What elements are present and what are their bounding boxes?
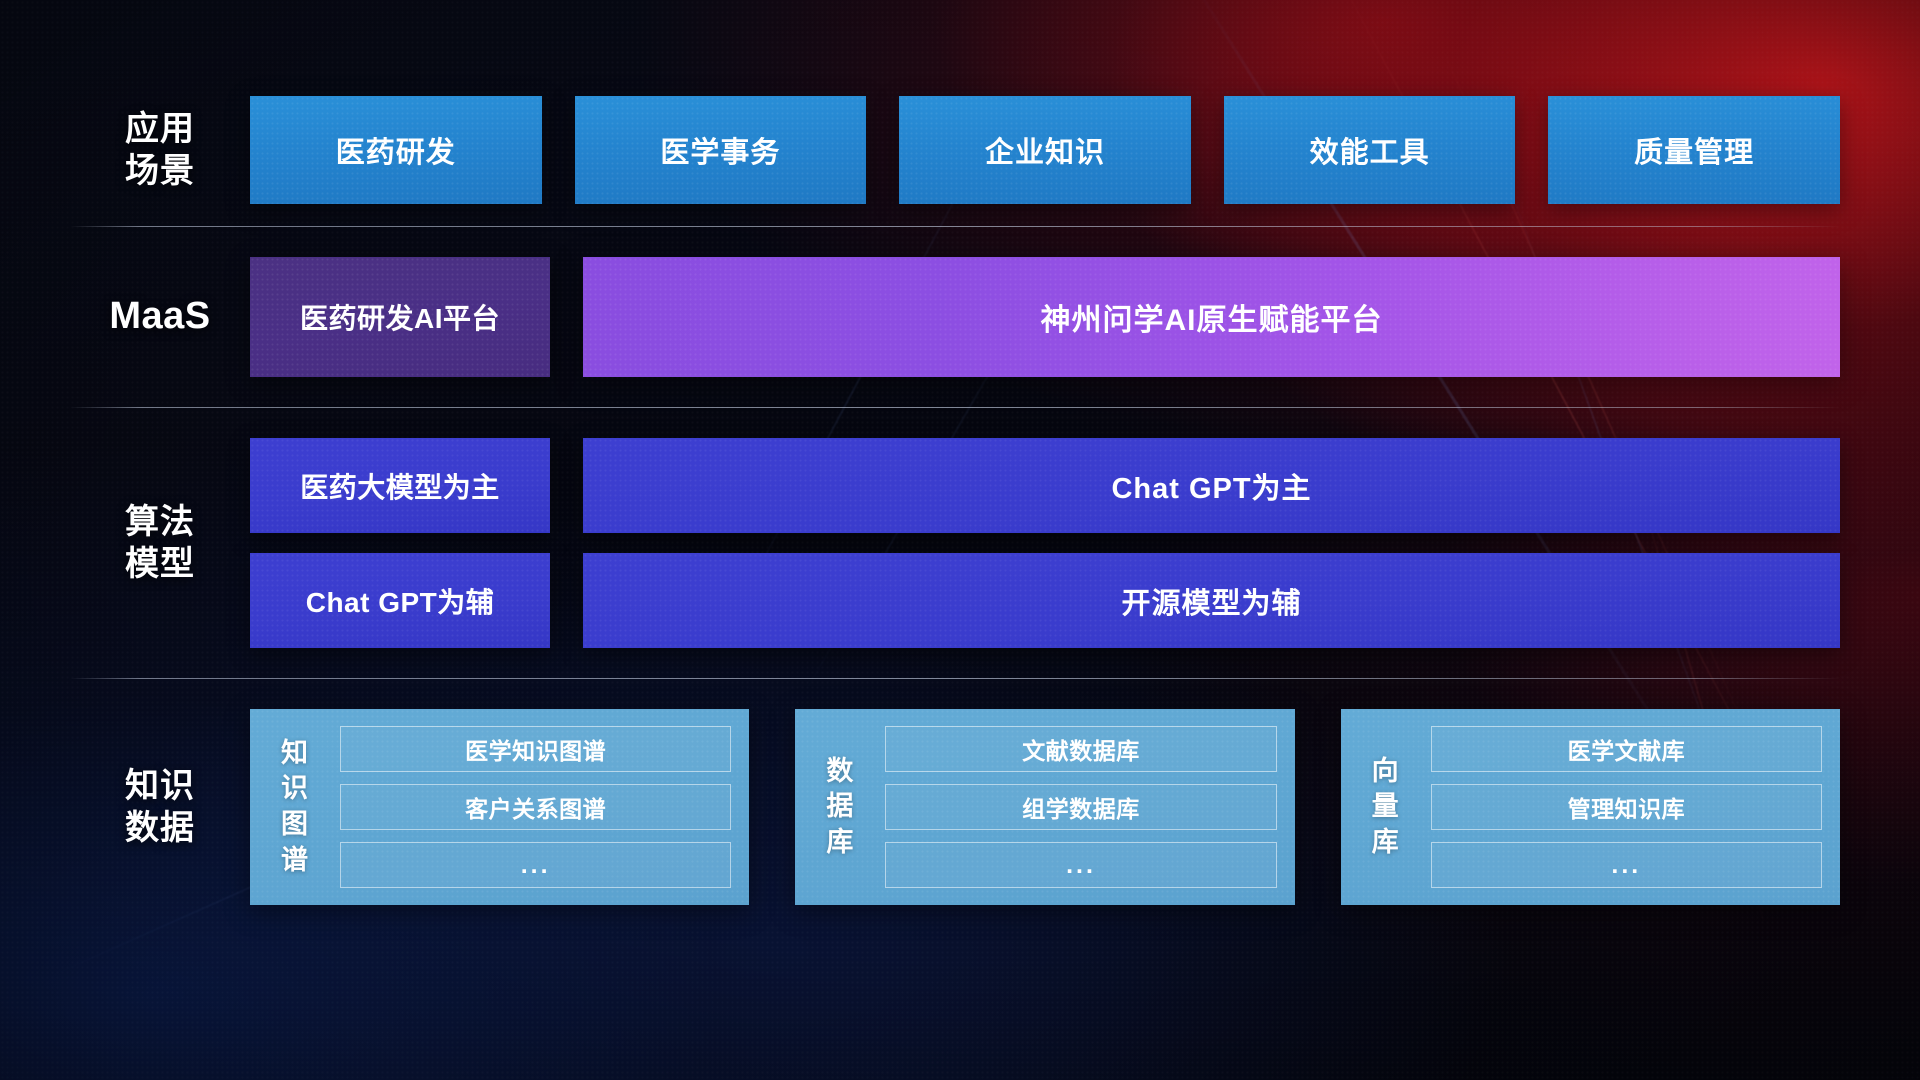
knowledge-item-omics-database[interactable]: 组学数据库 <box>885 784 1276 830</box>
layer-label-line-2: 场景 <box>125 150 195 193</box>
knowledge-panel-knowledge-graph[interactable]: 知 识 图 谱 医学知识图谱 客户关系图谱 ... <box>250 709 749 905</box>
layer-application-scenarios: 应用 场景 医药研发 医学事务 企业知识 效能工具 质量管理 <box>70 96 1840 204</box>
title-char-1: 向 <box>1372 754 1400 790</box>
algo-box-opensource-secondary[interactable]: 开源模型为辅 <box>583 553 1840 648</box>
layer-label-application-scenarios: 应用 场景 <box>70 96 250 204</box>
knowledge-item-medical-knowledge-graph[interactable]: 医学知识图谱 <box>340 726 731 772</box>
layer-label-line-1: 应用 <box>125 108 195 151</box>
knowledge-item-more-3[interactable]: ... <box>1431 842 1822 888</box>
knowledge-item-medical-literature-store[interactable]: 医学文献库 <box>1431 726 1822 772</box>
algorithm-row-primary: 医药大模型为主 Chat GPT为主 <box>250 438 1840 533</box>
architecture-diagram: 应用 场景 医药研发 医学事务 企业知识 效能工具 质量管理 MaaS 医药研 <box>70 96 1840 905</box>
layer-label-algorithm-models: 算法 模型 <box>70 438 250 648</box>
knowledge-panel-database[interactable]: 数 据 库 文献数据库 组学数据库 ... <box>795 709 1294 905</box>
knowledge-item-list-vector-store: 医学文献库 管理知识库 ... <box>1431 726 1822 888</box>
knowledge-panel-group: 知 识 图 谱 医学知识图谱 客户关系图谱 ... <box>250 709 1840 905</box>
title-char-2: 据 <box>826 789 854 825</box>
algo-box-chatgpt-primary[interactable]: Chat GPT为主 <box>583 438 1840 533</box>
knowledge-panel-title-database: 数 据 库 <box>809 726 871 888</box>
knowledge-panel-title-vector-store: 向 量 库 <box>1355 726 1417 888</box>
algo-box-chatgpt-secondary[interactable]: Chat GPT为辅 <box>250 553 550 648</box>
app-box-enterprise-knowledge[interactable]: 企业知识 <box>899 96 1191 204</box>
algorithm-row-secondary: Chat GPT为辅 开源模型为辅 <box>250 553 1840 648</box>
algo-box-pharma-llm-primary[interactable]: 医药大模型为主 <box>250 438 550 533</box>
app-box-efficiency-tools[interactable]: 效能工具 <box>1224 96 1516 204</box>
maas-box-drug-rd-ai-platform[interactable]: 医药研发AI平台 <box>250 257 550 377</box>
layer-algorithm-models: 算法 模型 医药大模型为主 Chat GPT为主 Chat GPT为辅 开源模型… <box>70 438 1840 648</box>
title-char-2: 量 <box>1372 789 1400 825</box>
app-box-medical-affairs[interactable]: 医学事务 <box>575 96 867 204</box>
algorithm-box-group: 医药大模型为主 Chat GPT为主 Chat GPT为辅 开源模型为辅 <box>250 438 1840 648</box>
knowledge-panel-vector-store[interactable]: 向 量 库 医学文献库 管理知识库 ... <box>1341 709 1840 905</box>
title-char-3: 图 <box>281 807 309 843</box>
layer-label-line-2: 模型 <box>125 543 195 586</box>
layer-label-line-1: 算法 <box>125 501 195 544</box>
layer-label-knowledge-data: 知识 数据 <box>70 709 250 905</box>
layer-knowledge-data: 知识 数据 知 识 图 谱 医学知识图谱 客户 <box>70 709 1840 905</box>
layer-body-knowledge-data: 知 识 图 谱 医学知识图谱 客户关系图谱 ... <box>250 709 1840 905</box>
title-char-1: 数 <box>826 754 854 790</box>
title-char-1: 知 <box>281 736 309 772</box>
maas-box-shenzhou-wenxue-platform[interactable]: 神州问学AI原生赋能平台 <box>583 257 1840 377</box>
title-char-4: 谱 <box>281 843 309 879</box>
layer-label-line-1: 知识 <box>125 765 195 808</box>
knowledge-item-more-2[interactable]: ... <box>885 842 1276 888</box>
layer-label-line-2: 数据 <box>125 807 195 850</box>
knowledge-panel-title-knowledge-graph: 知 识 图 谱 <box>264 726 326 888</box>
application-box-group: 医药研发 医学事务 企业知识 效能工具 质量管理 <box>250 96 1840 204</box>
layer-body-maas: 医药研发AI平台 神州问学AI原生赋能平台 <box>250 257 1840 377</box>
knowledge-item-literature-database[interactable]: 文献数据库 <box>885 726 1276 772</box>
title-char-3: 库 <box>1372 825 1400 861</box>
layer-label-maas: MaaS <box>70 257 250 377</box>
app-box-drug-rd[interactable]: 医药研发 <box>250 96 542 204</box>
knowledge-item-more-1[interactable]: ... <box>340 842 731 888</box>
knowledge-item-list-database: 文献数据库 组学数据库 ... <box>885 726 1276 888</box>
layer-body-algorithm-models: 医药大模型为主 Chat GPT为主 Chat GPT为辅 开源模型为辅 <box>250 438 1840 648</box>
app-box-quality-management[interactable]: 质量管理 <box>1548 96 1840 204</box>
title-char-3: 库 <box>826 825 854 861</box>
knowledge-item-management-knowledge-store[interactable]: 管理知识库 <box>1431 784 1822 830</box>
knowledge-item-list-knowledge-graph: 医学知识图谱 客户关系图谱 ... <box>340 726 731 888</box>
layer-maas: MaaS 医药研发AI平台 神州问学AI原生赋能平台 <box>70 257 1840 377</box>
knowledge-item-customer-relation-graph[interactable]: 客户关系图谱 <box>340 784 731 830</box>
title-char-2: 识 <box>281 771 309 807</box>
maas-box-group: 医药研发AI平台 神州问学AI原生赋能平台 <box>250 257 1840 377</box>
layer-body-application-scenarios: 医药研发 医学事务 企业知识 效能工具 质量管理 <box>250 96 1840 204</box>
